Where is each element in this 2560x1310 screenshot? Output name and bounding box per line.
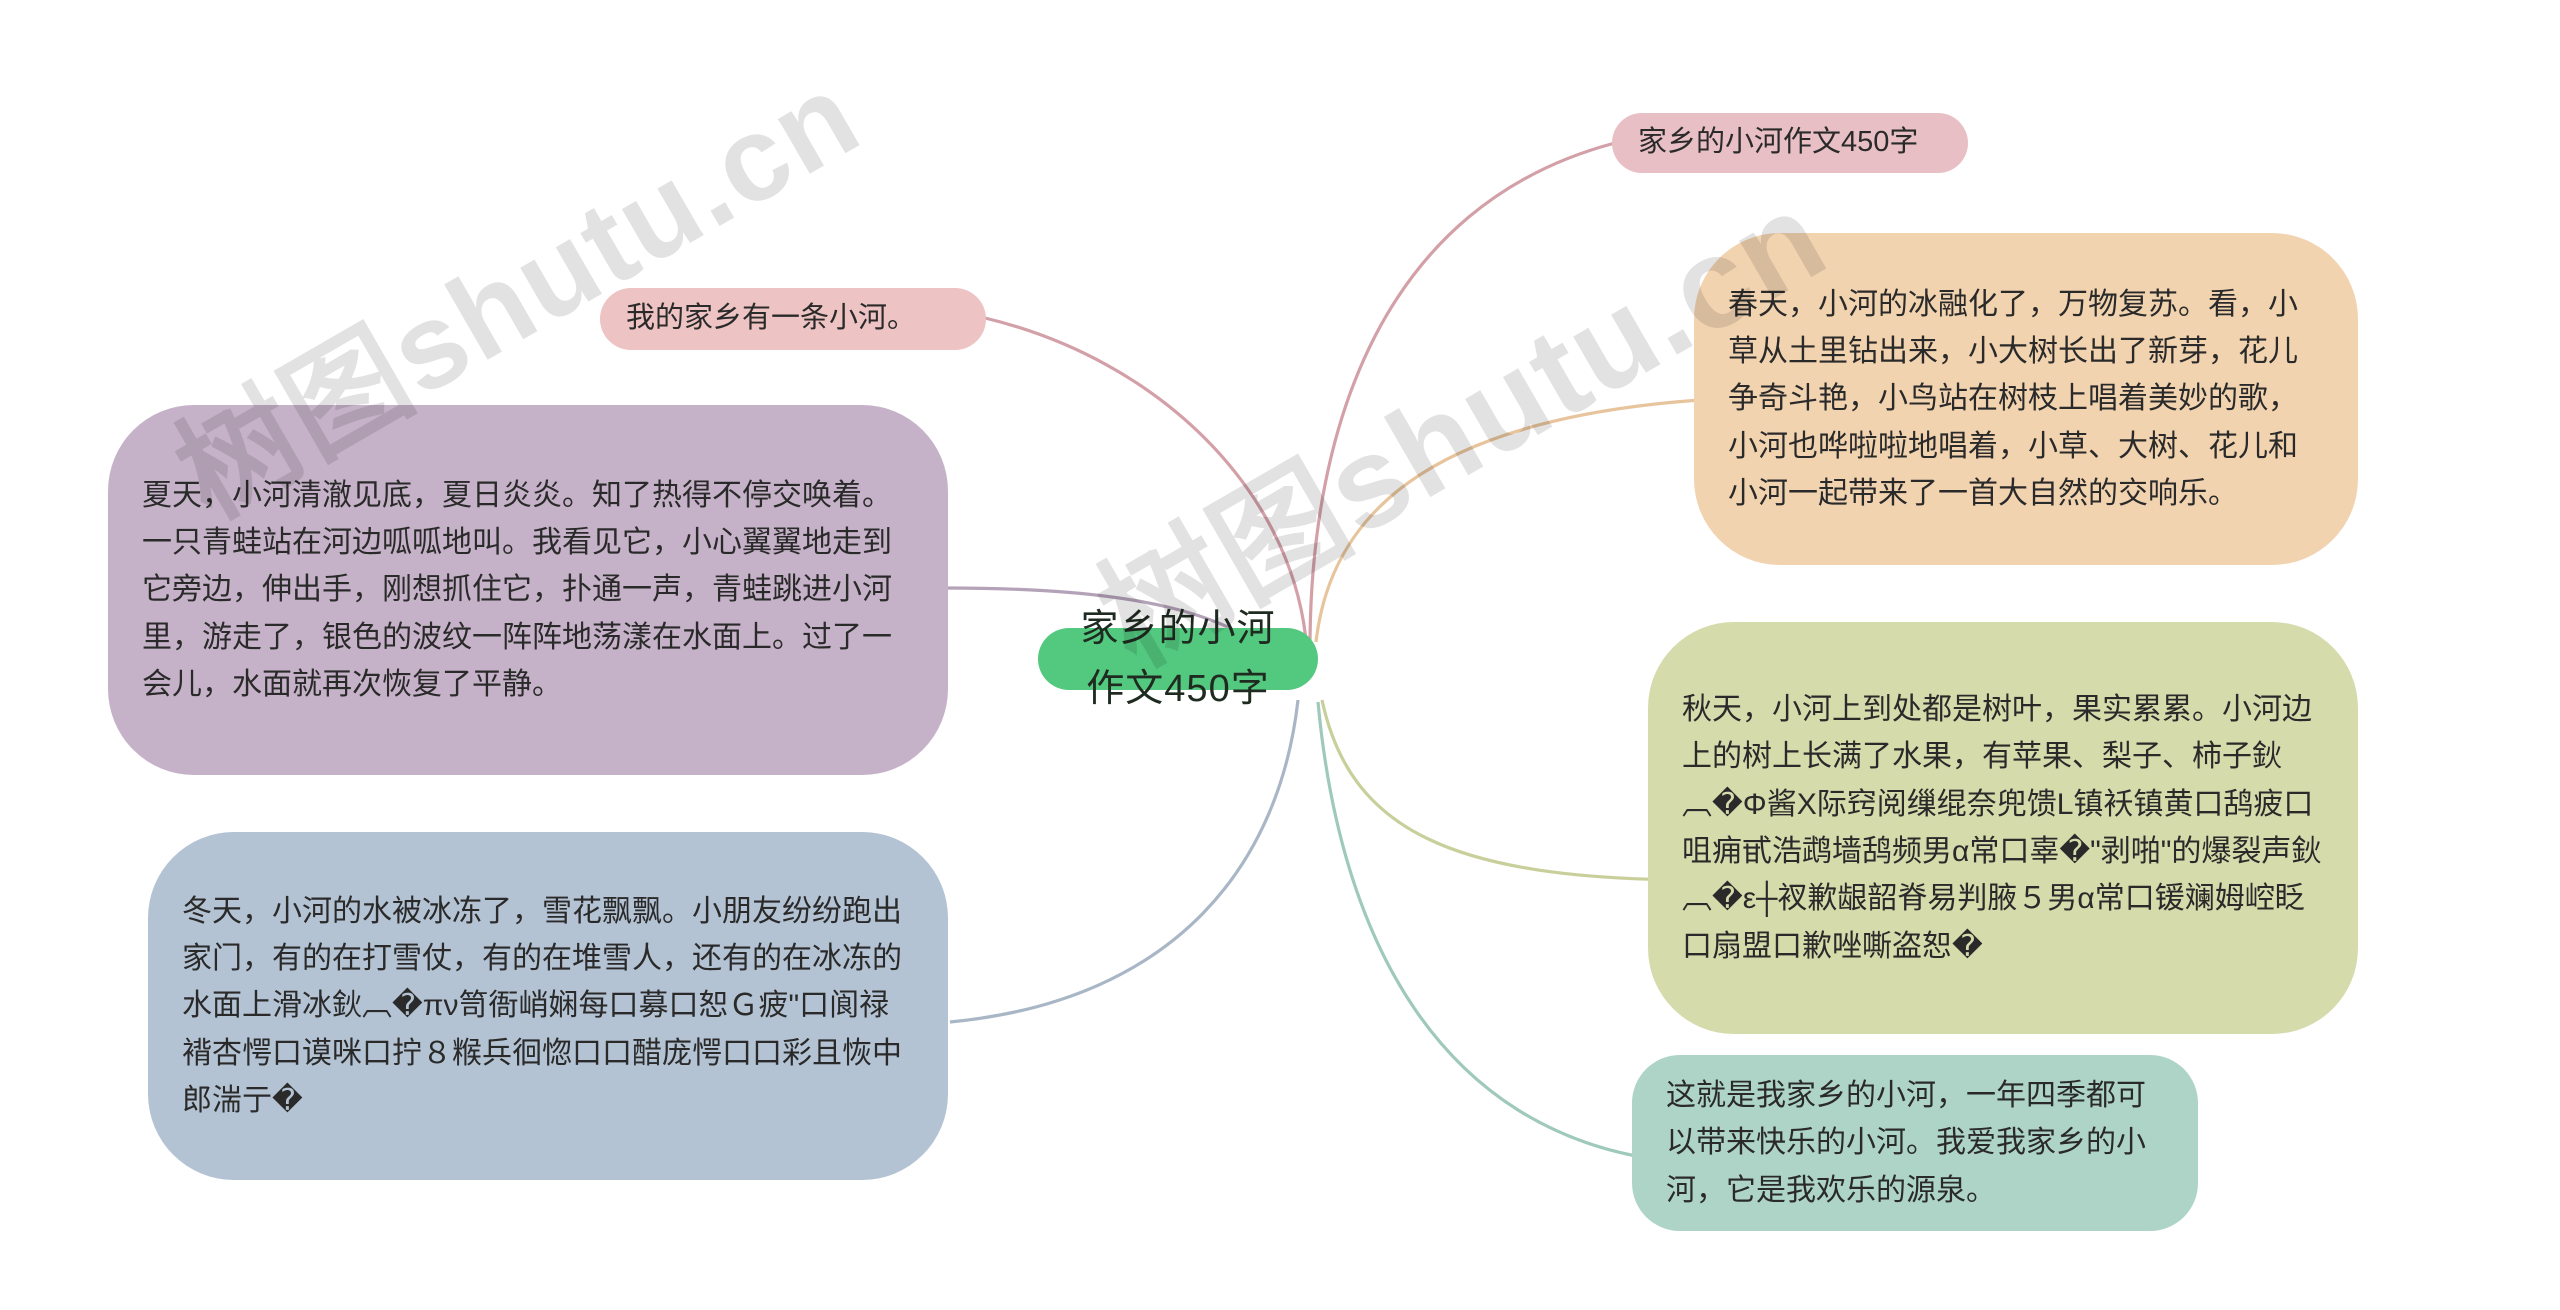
root-node[interactable]: 家乡的小河作文450字 <box>1038 628 1318 690</box>
connector-conclusion <box>1318 702 1660 1160</box>
branch-topic-title[interactable]: 家乡的小河作文450字 <box>1612 113 1968 173</box>
connector-spring <box>1316 400 1700 642</box>
branch-summer[interactable]: 夏天，小河清澈见底，夏日炎炎。知了热得不停交唤着。一只青蛙站在河边呱呱地叫。我看… <box>108 405 948 775</box>
branch-conclusion-label: 这就是我家乡的小河，一年四季都可以带来快乐的小河。我爱我家乡的小河，它是我欢乐的… <box>1666 1072 2164 1214</box>
mindmap-canvas: 树图shutu.cn 树图shutu.cn 家乡的小河作文450字 家乡的小河作… <box>0 0 2560 1310</box>
branch-topic-title-label: 家乡的小河作文450字 <box>1638 120 1918 166</box>
branch-spring-label: 春天，小河的冰融化了，万物复苏。看，小草从土里钻出来，小大树长出了新芽，花儿争奇… <box>1728 281 2324 518</box>
branch-autumn[interactable]: 秋天，小河上到处都是树叶，果实累累。小河边上的树上长满了水果，有苹果、梨子、柿子… <box>1648 622 2358 1034</box>
branch-winter-label: 冬天，小河的水被冰冻了，雪花飘飘。小朋友纷纷跑出家门，有的在打雪仗，有的在堆雪人… <box>182 888 914 1125</box>
branch-summer-label: 夏天，小河清澈见底，夏日炎炎。知了热得不停交唤着。一只青蛙站在河边呱呱地叫。我看… <box>142 472 914 709</box>
connector-autumn <box>1322 700 1700 880</box>
branch-autumn-label: 秋天，小河上到处都是树叶，果实累累。小河边上的树上长满了水果，有苹果、梨子、柿子… <box>1682 686 2324 970</box>
branch-intro[interactable]: 我的家乡有一条小河。 <box>600 288 986 350</box>
connector-winter <box>950 700 1298 1022</box>
connector-intro <box>985 318 1306 640</box>
root-node-label: 家乡的小河作文450字 <box>1064 599 1292 719</box>
branch-conclusion[interactable]: 这就是我家乡的小河，一年四季都可以带来快乐的小河。我爱我家乡的小河，它是我欢乐的… <box>1632 1055 2198 1231</box>
branch-winter[interactable]: 冬天，小河的水被冰冻了，雪花飘飘。小朋友纷纷跑出家门，有的在打雪仗，有的在堆雪人… <box>148 832 948 1180</box>
connector-topic-title <box>1310 143 1615 640</box>
branch-intro-label: 我的家乡有一条小河。 <box>626 296 916 342</box>
branch-spring[interactable]: 春天，小河的冰融化了，万物复苏。看，小草从土里钻出来，小大树长出了新芽，花儿争奇… <box>1694 233 2358 565</box>
